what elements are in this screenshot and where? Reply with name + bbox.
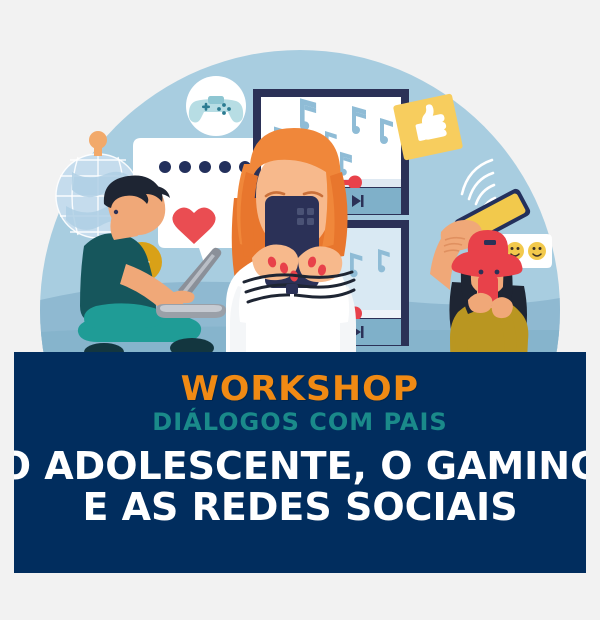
kicker-workshop: WORKSHOP — [181, 372, 419, 406]
gamepad-icon — [186, 76, 246, 136]
poster-canvas: WORKSHOP DIÁLOGOS COM PAIS O ADOLESCENTE… — [0, 0, 600, 620]
title-line-1: O ADOLESCENTE, O GAMING — [14, 444, 586, 488]
page-title: O ADOLESCENTE, O GAMING E AS REDES SOCIA… — [14, 446, 586, 528]
progress-knob — [348, 176, 362, 190]
title-banner: WORKSHOP DIÁLOGOS COM PAIS O ADOLESCENTE… — [14, 352, 586, 573]
illustration — [0, 0, 600, 400]
subtitle-dialogos: DIÁLOGOS COM PAIS — [152, 410, 447, 434]
title-line-2: E AS REDES SOCIAIS — [14, 487, 586, 528]
